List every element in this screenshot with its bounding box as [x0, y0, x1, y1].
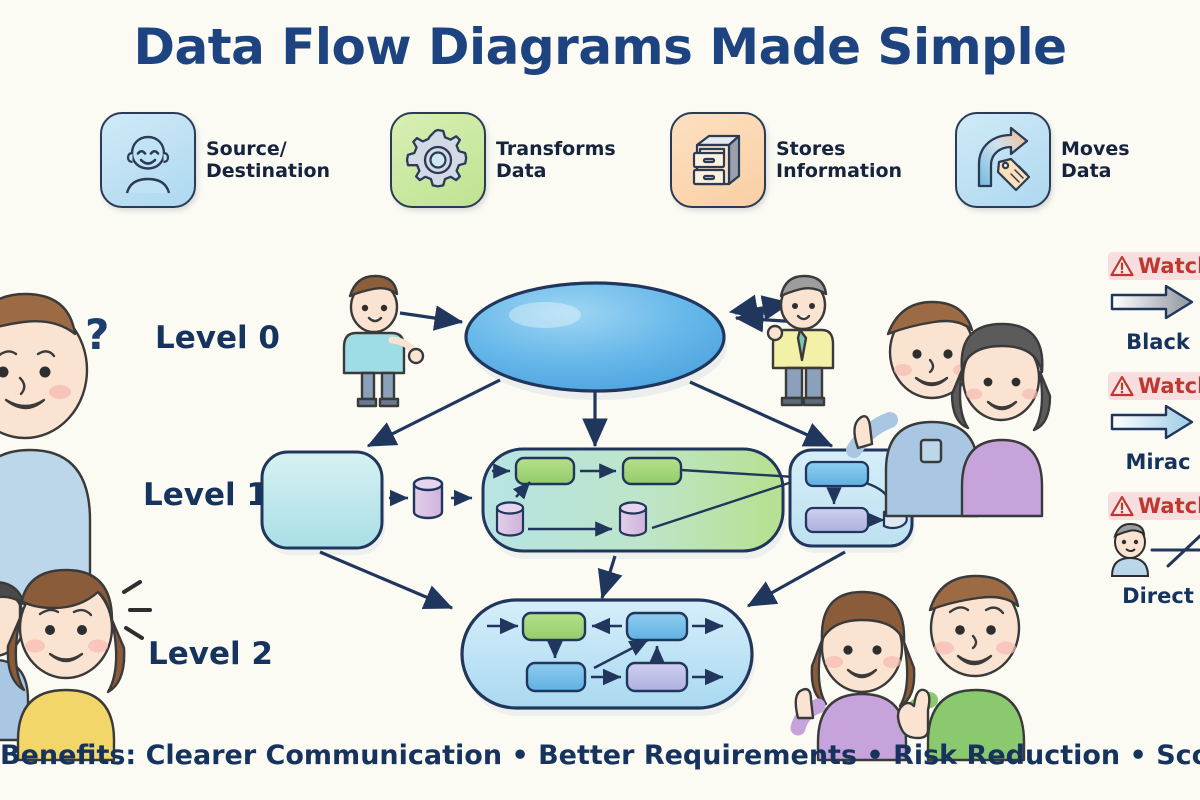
watchout-direct[interactable]: Watch Direct — [1108, 492, 1200, 608]
level-2-process-blue-top[interactable] — [627, 613, 687, 640]
level-1-container-right[interactable] — [790, 450, 915, 553]
watchout-column: Watch Black Watch — [1108, 252, 1200, 626]
watchout-badge: Watch — [1108, 252, 1200, 280]
watchout-badge: Watch — [1108, 372, 1200, 400]
watchout-caption: Black — [1108, 330, 1200, 354]
warning-triangle-icon — [1110, 255, 1134, 277]
infographic-canvas: Data Flow Diagrams Made Simple Source/ D… — [0, 0, 1200, 800]
person-crossed-out-icon — [1108, 520, 1200, 578]
watchout-miracle[interactable]: Watch Mirac — [1108, 372, 1200, 474]
dfd-diagram — [0, 0, 1200, 800]
level-1-store-1[interactable] — [497, 503, 523, 536]
level-2-process-green[interactable] — [523, 613, 585, 640]
watchout-badge-label: Watch — [1138, 254, 1200, 278]
benefits-footer: Benefits: Clearer Communication • Better… — [0, 740, 1200, 771]
level-1-store-2[interactable] — [620, 503, 646, 536]
level-1-process-green-1[interactable] — [516, 458, 574, 484]
watchout-badge: Watch — [1108, 492, 1200, 520]
watchout-black-box[interactable]: Watch Black — [1108, 252, 1200, 354]
watchout-badge-label: Watch — [1138, 494, 1200, 518]
level-1-external-entity[interactable] — [262, 452, 385, 555]
level-2-container[interactable] — [462, 600, 755, 716]
gray-arrow-icon — [1108, 280, 1200, 324]
level-0-process[interactable] — [466, 283, 727, 400]
level-2-process-blue-bottom[interactable] — [527, 663, 585, 691]
warning-triangle-icon — [1110, 375, 1134, 397]
light-blue-arrow-icon — [1108, 400, 1200, 444]
warning-triangle-icon — [1110, 495, 1134, 517]
watchout-caption: Mirac — [1108, 450, 1200, 474]
level-1-process-green-2[interactable] — [623, 458, 681, 484]
data-store-cylinder[interactable] — [414, 478, 442, 518]
watchout-badge-label: Watch — [1138, 374, 1200, 398]
level-2-process-lavender[interactable] — [627, 663, 687, 691]
watchout-caption: Direct — [1108, 584, 1200, 608]
